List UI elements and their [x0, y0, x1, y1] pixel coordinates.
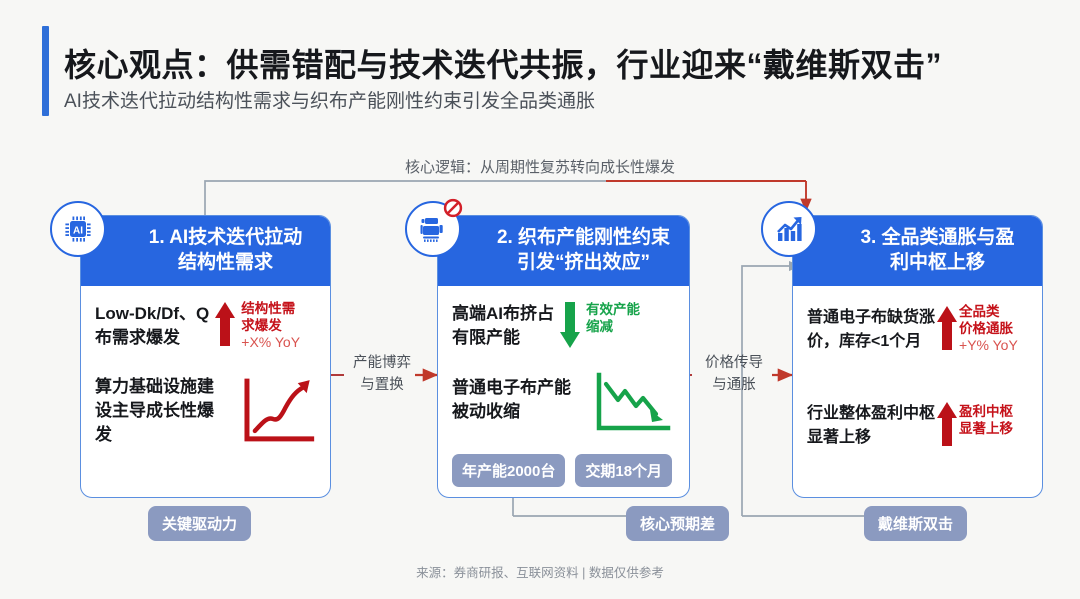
card-3-note2-line2: 显著上移	[959, 420, 1013, 437]
card-2-row-1: 高端AI布挤占 有限产能 有效产能 缩减	[452, 302, 677, 350]
card-3-row-1-line1: 普通电子布缺货涨	[807, 306, 935, 330]
card-2-chip-0: 年产能2000台	[452, 454, 565, 487]
line-chart-down-green-icon	[592, 372, 674, 436]
card-1-note-sub: +X% YoY	[241, 334, 300, 351]
card-3-header: 3. 全品类通胀与盈 利中枢上移	[793, 216, 1042, 286]
ai-chip-icon: AI	[62, 213, 94, 245]
header-accent-bar	[42, 26, 49, 116]
card-1-body: Low-Dk/Df、Q 布需求爆发 结构性需 求爆发 +X% YoY 算力基础设…	[81, 286, 330, 497]
card-1-row-1: Low-Dk/Df、Q 布需求爆发 结构性需 求爆发 +X% YoY	[95, 302, 318, 351]
core-logic-label: 核心逻辑：从周期性复苏转向成长性爆发	[0, 156, 1080, 177]
down-arrow-green-icon	[560, 302, 580, 348]
card-3-note-line2: 价格通胀	[959, 320, 1018, 337]
card-2[interactable]: 2. 织布产能刚性约束 引发“挤出效应” 高端AI布挤占 有限产能 有效产能 缩…	[437, 215, 690, 498]
card-2-header: 2. 织布产能刚性约束 引发“挤出效应”	[438, 216, 689, 286]
card-3-row-2-text: 行业整体盈利中枢 显著上移	[807, 402, 935, 450]
card-1-row-1-text: Low-Dk/Df、Q 布需求爆发	[95, 302, 209, 350]
card-1-tag: 关键驱动力	[148, 506, 251, 541]
bar-chart-up-icon-badge	[761, 201, 817, 257]
card-3-tag: 戴维斯双击	[864, 506, 967, 541]
connector-label-2-3: 价格传导 与通胀	[694, 352, 774, 396]
line-chart-up-red-icon	[240, 377, 318, 449]
card-3-note-sub: +Y% YoY	[959, 337, 1018, 354]
card-2-row-2: 普通电子布产能 被动收缩	[452, 376, 677, 436]
card-3-body: 普通电子布缺货涨 价，库存<1个月 全品类 价格通胀 +Y% YoY 行业整体盈…	[793, 286, 1042, 497]
card-3-note-line1: 全品类	[959, 303, 1018, 320]
card-3-row-1-text: 普通电子布缺货涨 价，库存<1个月	[807, 306, 935, 354]
card-3-row-1-note: 全品类 价格通胀 +Y% YoY	[959, 303, 1018, 354]
card-1-header: 1. AI技术迭代拉动 结构性需求	[81, 216, 330, 286]
card-2-row-2-line1: 普通电子布产能	[452, 376, 586, 400]
card-2-chips: 年产能2000台 交期18个月	[452, 454, 672, 487]
card-2-note-line2: 缩减	[586, 318, 640, 335]
card-2-row-1-text: 高端AI布挤占 有限产能	[452, 302, 554, 350]
bar-chart-up-icon	[773, 213, 805, 245]
card-1-title-line2: 结构性需求	[127, 250, 324, 275]
card-1-row-1-note: 结构性需 求爆发 +X% YoY	[241, 300, 300, 351]
card-1-row-1-line1: Low-Dk/Df、Q	[95, 302, 209, 326]
card-1-title-line1: 1. AI技术迭代拉动	[127, 225, 324, 250]
connector-label-1-2-line2: 与置换	[344, 374, 420, 396]
up-arrow-red-icon	[215, 302, 235, 346]
card-1[interactable]: 1. AI技术迭代拉动 结构性需求 Low-Dk/Df、Q 布需求爆发 结构性需…	[80, 215, 331, 498]
card-1-row-2: 算力基础设施建 设主导成长性爆 发	[95, 375, 318, 449]
card-1-row-1-line2: 布需求爆发	[95, 326, 209, 350]
connector-label-2-3-line2: 与通胀	[694, 374, 774, 396]
ai-chip-icon-badge: AI	[50, 201, 106, 257]
prohibition-icon	[443, 198, 463, 218]
svg-text:AI: AI	[73, 226, 83, 237]
card-3-row-1-line2: 价，库存<1个月	[807, 330, 935, 354]
card-3-row-2-line2: 显著上移	[807, 426, 935, 450]
card-1-note-line2: 求爆发	[241, 317, 300, 334]
card-3-row-2-line1: 行业整体盈利中枢	[807, 402, 935, 426]
card-1-row-2-line2: 设主导成长性爆	[95, 399, 234, 423]
loom-blocked-icon-badge	[405, 201, 461, 257]
connector-label-2-3-line1: 价格传导	[694, 352, 774, 374]
card-2-body: 高端AI布挤占 有限产能 有效产能 缩减 普通电子布产能 被动收缩	[438, 286, 689, 497]
connector-label-1-2-line1: 产能博弈	[344, 352, 420, 374]
card-2-row-1-note: 有效产能 缩减	[586, 301, 640, 335]
card-3-row-2-note: 盈利中枢 显著上移	[959, 403, 1013, 437]
card-2-title-line1: 2. 织布产能刚性约束	[484, 225, 683, 250]
page-title: 核心观点：供需错配与技术迭代共振，行业迎来“戴维斯双击”	[64, 40, 942, 86]
card-2-title-line2: 引发“挤出效应”	[484, 250, 683, 275]
card-1-row-2-line1: 算力基础设施建	[95, 375, 234, 399]
card-3-row-2: 行业整体盈利中枢 显著上移 盈利中枢 显著上移	[807, 402, 1030, 450]
card-1-row-2-text: 算力基础设施建 设主导成长性爆 发	[95, 375, 234, 447]
page-header: 核心观点：供需错配与技术迭代共振，行业迎来“戴维斯双击” AI技术迭代拉动结构性…	[42, 22, 1042, 118]
connector-label-1-2: 产能博弈 与置换	[344, 352, 420, 396]
card-3-note2-line1: 盈利中枢	[959, 403, 1013, 420]
page-subtitle: AI技术迭代拉动结构性需求与织布产能刚性约束引发全品类通胀	[64, 86, 595, 113]
up-arrow-red-icon	[937, 306, 957, 350]
card-2-row-1-line1: 高端AI布挤占	[452, 302, 554, 326]
up-arrow-red-icon	[937, 402, 957, 442]
card-2-row-2-line2: 被动收缩	[452, 400, 586, 424]
card-3-row-1: 普通电子布缺货涨 价，库存<1个月 全品类 价格通胀 +Y% YoY	[807, 306, 1030, 354]
card-3[interactable]: 3. 全品类通胀与盈 利中枢上移 普通电子布缺货涨 价，库存<1个月 全品类 价…	[792, 215, 1043, 498]
card-3-title-line2: 利中枢上移	[839, 250, 1036, 275]
card-1-row-2-line3: 发	[95, 423, 234, 447]
card-2-tag: 核心预期差	[626, 506, 729, 541]
card-2-chip-1: 交期18个月	[575, 454, 672, 487]
card-2-row-1-line2: 有限产能	[452, 326, 554, 350]
card-3-title-line1: 3. 全品类通胀与盈	[839, 225, 1036, 250]
card-2-row-2-text: 普通电子布产能 被动收缩	[452, 376, 586, 424]
source-footer: 来源：券商研报、互联网资料 | 数据仅供参考	[0, 562, 1080, 581]
card-2-note-line1: 有效产能	[586, 301, 640, 318]
card-1-note-line1: 结构性需	[241, 300, 300, 317]
